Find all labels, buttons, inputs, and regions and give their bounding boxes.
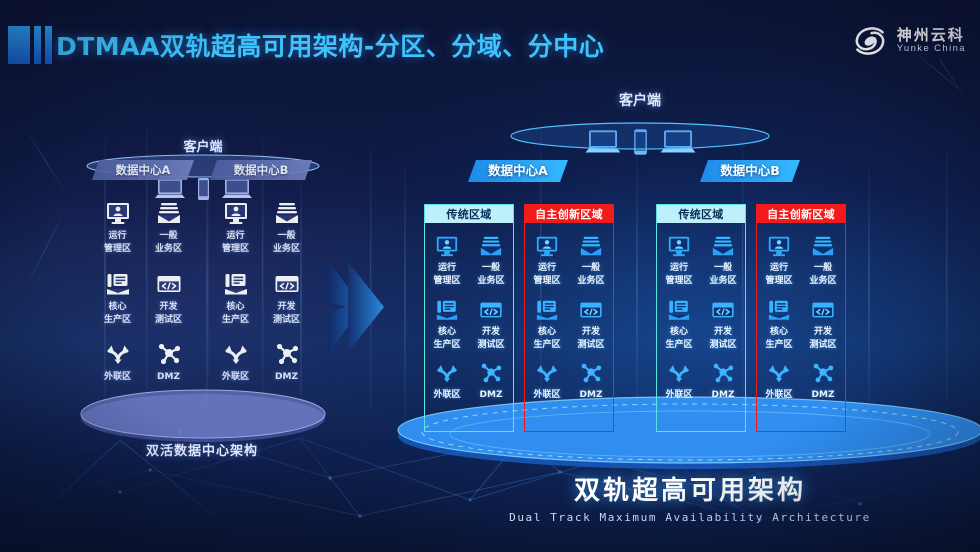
inbox-stack-icon (569, 232, 613, 260)
link-branch-icon (92, 339, 143, 369)
code-window-icon (801, 296, 845, 324)
right-client-label: 客户端 (560, 90, 720, 110)
zone-label: 测试区 (701, 340, 745, 350)
right-client-platform (508, 120, 772, 152)
zone-label: 一般 (569, 263, 613, 273)
zone-card-header: 自主创新区域 (524, 204, 614, 223)
zone-item: 开发测试区 (469, 296, 513, 351)
zone-item: DMZ (469, 359, 513, 400)
zone-label: 一般 (261, 231, 312, 241)
zone-label: 管理区 (757, 276, 801, 286)
zone-label: 开发 (801, 327, 845, 337)
title-accent-bars-icon (8, 26, 52, 64)
zone-item: 核心生产区 (757, 296, 801, 351)
zone-label: 运行 (92, 231, 143, 241)
zone-label: 运行 (210, 231, 261, 241)
brand-name-en: Yunke China (897, 44, 966, 54)
monitor-user-icon (210, 198, 261, 228)
zone-item: 核心生产区 (525, 296, 569, 351)
zone-label: 一般 (801, 263, 845, 273)
zone-label: 核心 (210, 302, 261, 312)
zone-item: 一般业务区 (801, 232, 845, 287)
zone-item: 开发测试区 (569, 296, 613, 351)
zone-label: 测试区 (143, 315, 194, 325)
zone-label: 一般 (469, 263, 513, 273)
zone-label: 核心 (425, 327, 469, 337)
inbox-stack-icon (701, 232, 745, 260)
zone-card-header: 传统区域 (656, 204, 746, 223)
zone-item: 核心 生产区 (210, 269, 261, 326)
zone-label: 外联区 (657, 390, 701, 400)
zone-label: 管理区 (210, 244, 261, 254)
molecule-dmz-icon (701, 359, 745, 387)
zone-item: 运行 管理区 (92, 198, 143, 255)
zone-item: 外联区 (210, 339, 261, 382)
left-datacenter-b: 数据中心B (210, 160, 312, 180)
zone-item: 运行管理区 (657, 232, 701, 287)
monitor-user-icon (657, 232, 701, 260)
zone-label: 管理区 (525, 276, 569, 286)
zone-label: DMZ (701, 390, 745, 400)
zone-label: 业务区 (801, 276, 845, 286)
zone-label: 运行 (657, 263, 701, 273)
zone-label: 外联区 (757, 390, 801, 400)
zone-item: 一般 业务区 (261, 198, 312, 255)
zone-label: 生产区 (210, 315, 261, 325)
zone-card-traditional: 传统区域 运行管理区 一般业务区 核心生产区 开发测试区 外联区 DMZ (656, 204, 746, 432)
zone-item: 外联区 (757, 359, 801, 400)
zone-label: 一般 (701, 263, 745, 273)
link-branch-icon (757, 359, 801, 387)
monitor-user-icon (525, 232, 569, 260)
dtmaa-architecture-panel: 数据中心A 传统区域 运行管理区 一般业务区 核心生产区 开发测试区 外联区 D… (400, 160, 980, 460)
zone-item: 开发测试区 (701, 296, 745, 351)
page-title: DTMAA双轨超高可用架构-分区、分域、分中心 (56, 27, 604, 63)
zone-label: 生产区 (92, 315, 143, 325)
inbox-stack-icon (143, 198, 194, 228)
legacy-architecture-panel: 数据中心A 数据中心B 运行 管理区 (92, 160, 312, 460)
zone-label: 开发 (261, 302, 312, 312)
right-caption-cn: 双轨超高可用架构 (400, 470, 980, 507)
zone-item: DMZ (569, 359, 613, 400)
zone-item: 核心 生产区 (92, 269, 143, 326)
code-window-icon (143, 269, 194, 299)
zone-item: 一般业务区 (569, 232, 613, 287)
brand-logo: 神州云科 Yunke China (851, 22, 966, 60)
zone-label: 运行 (525, 263, 569, 273)
zone-label: 外联区 (92, 372, 143, 382)
zone-label: 业务区 (143, 244, 194, 254)
zone-label: 外联区 (425, 390, 469, 400)
database-core-icon (210, 269, 261, 299)
zone-label: 核心 (92, 302, 143, 312)
database-core-icon (657, 296, 701, 324)
right-caption-en: Dual Track Maximum Availability Architec… (400, 511, 980, 524)
zone-label: DMZ (569, 390, 613, 400)
zone-card-header: 传统区域 (424, 204, 514, 223)
molecule-dmz-icon (569, 359, 613, 387)
molecule-dmz-icon (143, 339, 194, 369)
zone-label: 开发 (143, 302, 194, 312)
monitor-user-icon (757, 232, 801, 260)
code-window-icon (569, 296, 613, 324)
zone-label: DMZ (469, 390, 513, 400)
link-branch-icon (210, 339, 261, 369)
molecule-dmz-icon (469, 359, 513, 387)
left-caption: 双活数据中心架构 (92, 440, 312, 459)
zone-item: 开发测试区 (801, 296, 845, 351)
zone-item: 外联区 (525, 359, 569, 400)
zone-item: 一般 业务区 (143, 198, 194, 255)
code-window-icon (701, 296, 745, 324)
yunke-swirl-icon (851, 22, 889, 60)
zone-item: 运行 管理区 (210, 198, 261, 255)
zone-label: 管理区 (657, 276, 701, 286)
inbox-stack-icon (801, 232, 845, 260)
zone-label: 核心 (525, 327, 569, 337)
link-branch-icon (425, 359, 469, 387)
inbox-stack-icon (469, 232, 513, 260)
monitor-user-icon (425, 232, 469, 260)
zone-label: 测试区 (569, 340, 613, 350)
database-core-icon (92, 269, 143, 299)
link-branch-icon (657, 359, 701, 387)
brand-name-cn: 神州云科 (897, 28, 966, 44)
zone-item: 外联区 (92, 339, 143, 382)
zone-item: 一般业务区 (469, 232, 513, 287)
inbox-stack-icon (261, 198, 312, 228)
zone-label: DMZ (801, 390, 845, 400)
zone-item: DMZ (143, 339, 194, 382)
zone-card-header: 自主创新区域 (756, 204, 846, 223)
zone-label: 运行 (757, 263, 801, 273)
zone-label: 业务区 (569, 276, 613, 286)
zone-item: 一般业务区 (701, 232, 745, 287)
zone-item: 运行管理区 (525, 232, 569, 287)
zone-item: DMZ (801, 359, 845, 400)
zone-item: 开发 测试区 (143, 269, 194, 326)
zone-label: 生产区 (657, 340, 701, 350)
zone-label: 测试区 (261, 315, 312, 325)
zone-label: 运行 (425, 263, 469, 273)
zone-label: 开发 (469, 327, 513, 337)
zone-item: 核心生产区 (425, 296, 469, 351)
database-core-icon (425, 296, 469, 324)
zone-item: 核心生产区 (657, 296, 701, 351)
zone-label: 开发 (569, 327, 613, 337)
right-caption: 双轨超高可用架构 Dual Track Maximum Availability… (400, 470, 980, 524)
database-core-icon (757, 296, 801, 324)
zone-label: 测试区 (469, 340, 513, 350)
zone-label: 业务区 (261, 244, 312, 254)
zone-label: 生产区 (757, 340, 801, 350)
left-datacenter-a-label: 数据中心A (92, 160, 194, 180)
slide-canvas: DTMAA双轨超高可用架构-分区、分域、分中心 神州云科 Yunke China… (0, 0, 980, 552)
zone-label: 业务区 (469, 276, 513, 286)
zone-label: 管理区 (92, 244, 143, 254)
molecule-dmz-icon (261, 339, 312, 369)
zone-label: 生产区 (425, 340, 469, 350)
zone-card-traditional: 传统区域 运行管理区 一般业务区 核心生产区 开发测试区 外联区 DMZ (424, 204, 514, 432)
monitor-user-icon (92, 198, 143, 228)
header: DTMAA双轨超高可用架构-分区、分域、分中心 神州云科 Yunke China (0, 0, 980, 84)
zone-item: 开发 测试区 (261, 269, 312, 326)
right-datacenter-b-block: 传统区域 运行管理区 一般业务区 核心生产区 开发测试区 外联区 DMZ 自主创… (656, 204, 846, 432)
code-window-icon (261, 269, 312, 299)
molecule-dmz-icon (801, 359, 845, 387)
link-branch-icon (525, 359, 569, 387)
left-datacenter-a: 数据中心A (92, 160, 194, 180)
zone-item: 外联区 (657, 359, 701, 400)
zone-label: 业务区 (701, 276, 745, 286)
zone-label: DMZ (261, 372, 312, 382)
database-core-icon (525, 296, 569, 324)
right-datacenter-b-tag: 数据中心B (700, 160, 800, 182)
zone-label: 一般 (143, 231, 194, 241)
zone-item: 外联区 (425, 359, 469, 400)
left-dc-a-zone-grid: 运行 管理区 一般 业务区 核心 生产区 (92, 198, 194, 383)
zone-item: DMZ (261, 339, 312, 382)
zone-card-innovation: 自主创新区域 运行管理区 一般业务区 核心生产区 开发测试区 外联区 DMZ (524, 204, 614, 432)
zone-label: 外联区 (210, 372, 261, 382)
zone-item: 运行管理区 (757, 232, 801, 287)
zone-item: 运行管理区 (425, 232, 469, 287)
zone-label: 核心 (657, 327, 701, 337)
code-window-icon (469, 296, 513, 324)
zone-label: 开发 (701, 327, 745, 337)
zone-label: 管理区 (425, 276, 469, 286)
right-datacenter-a-block: 传统区域 运行管理区 一般业务区 核心生产区 开发测试区 外联区 DMZ 自主创… (424, 204, 614, 432)
left-datacenter-b-label: 数据中心B (210, 160, 312, 180)
right-datacenter-a-tag: 数据中心A (468, 160, 568, 182)
zone-label: 测试区 (801, 340, 845, 350)
left-dc-b-zone-grid: 运行 管理区 一般 业务区 核心 生产区 (210, 198, 312, 383)
zone-card-innovation: 自主创新区域 运行管理区 一般业务区 核心生产区 开发测试区 外联区 DMZ (756, 204, 846, 432)
zone-label: 外联区 (525, 390, 569, 400)
double-chevron-right-icon (322, 252, 392, 362)
zone-label: 生产区 (525, 340, 569, 350)
zone-label: 核心 (757, 327, 801, 337)
zone-item: DMZ (701, 359, 745, 400)
zone-label: DMZ (143, 372, 194, 382)
